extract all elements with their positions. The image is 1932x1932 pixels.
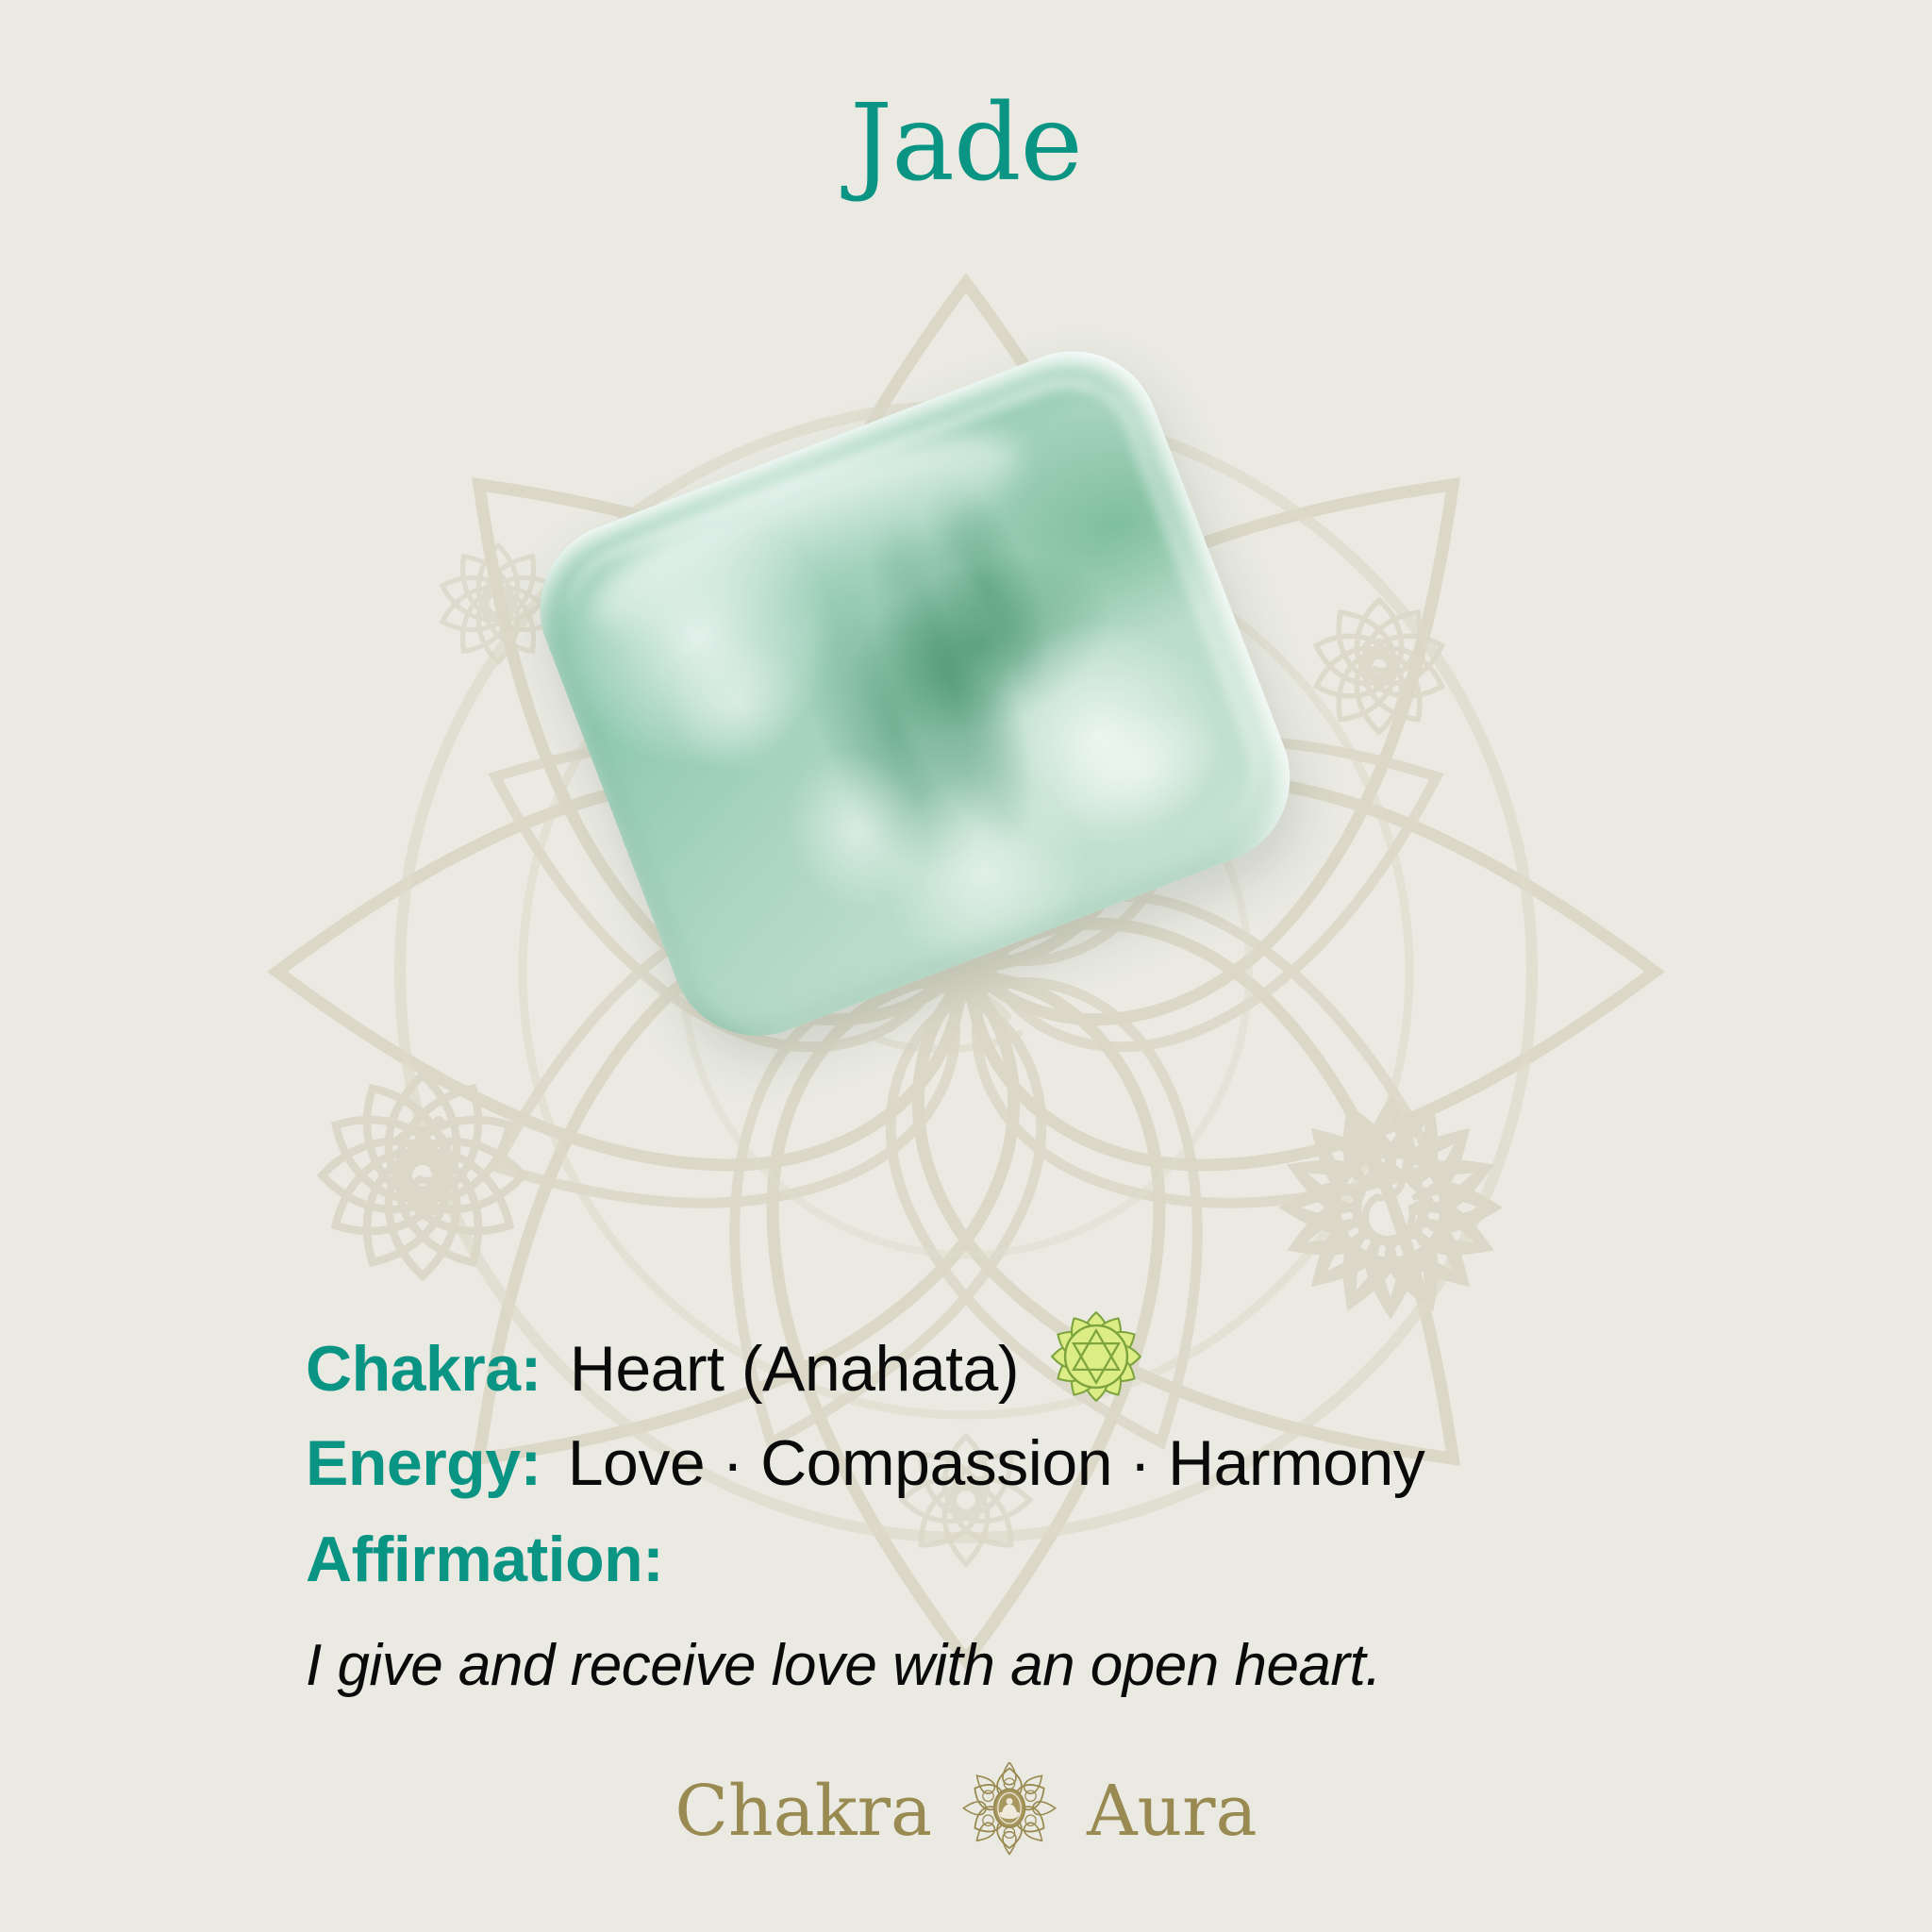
page-title: Jade (0, 91, 1932, 196)
watermark-chakra-glyph-topright (1309, 599, 1449, 732)
chakra-value: Heart (Anahata) (570, 1332, 1019, 1406)
stone-rim-highlight (515, 325, 1315, 1060)
brand-word-chakra: Chakra (675, 1776, 932, 1846)
brand-word-aura: Aura (1087, 1776, 1257, 1846)
jade-tumbled-stone (515, 325, 1315, 1060)
chakra-label: Chakra: (306, 1332, 541, 1406)
affirmation-text: I give and receive love with an open hea… (306, 1632, 1721, 1699)
crystal-info-card: Jade Chakra: Heart (Anahata) (0, 0, 1932, 1932)
chakra-row: Chakra: Heart (Anahata) (306, 1292, 1721, 1406)
brand-logo: Chakra (0, 1762, 1932, 1860)
lotus-mandala-logo-icon (960, 1762, 1058, 1860)
energy-label: Energy: (306, 1426, 541, 1500)
crystal-attributes: Chakra: Heart (Anahata) (306, 1292, 1721, 1699)
affirmation-label: Affirmation: (306, 1523, 1721, 1596)
anahata-chakra-icon (1047, 1307, 1145, 1406)
watermark-chakra-glyph-right (1286, 1103, 1496, 1313)
energy-value: Love · Compassion · Harmony (568, 1426, 1425, 1500)
jade-stone-image (500, 335, 1330, 1080)
watermark-chakra-glyph-left (319, 1072, 526, 1279)
energy-row: Energy: Love · Compassion · Harmony (306, 1426, 1721, 1500)
